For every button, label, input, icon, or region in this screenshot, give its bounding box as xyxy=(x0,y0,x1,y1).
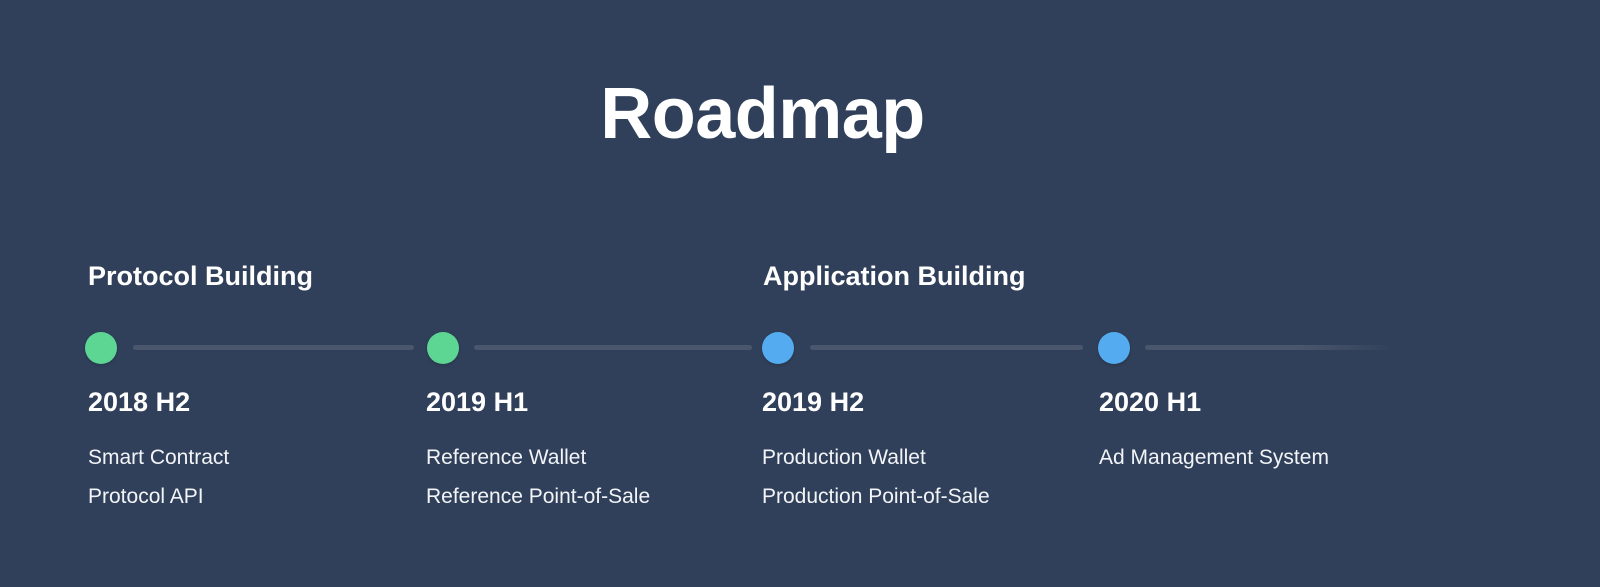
milestone-item-list: Ad Management System xyxy=(1099,438,1429,477)
timeline-track-segment xyxy=(474,345,752,350)
milestone-item: Production Point-of-Sale xyxy=(762,477,1092,516)
milestone-item: Reference Wallet xyxy=(426,438,756,477)
milestone-item-list: Production Wallet Production Point-of-Sa… xyxy=(762,438,1092,516)
roadmap-page: Roadmap Protocol Building Application Bu… xyxy=(0,0,1600,587)
milestone-dot-2019-h1 xyxy=(427,332,459,364)
milestone-block: 2019 H1 Reference Wallet Reference Point… xyxy=(426,389,756,516)
milestone-item: Production Wallet xyxy=(762,438,1092,477)
milestone-block: 2020 H1 Ad Management System xyxy=(1099,389,1429,477)
timeline-track-segment-fading xyxy=(1145,345,1393,350)
milestone-dot-2019-h2 xyxy=(762,332,794,364)
roadmap-timeline: Protocol Building Application Building 2… xyxy=(0,0,1600,587)
milestone-item: Ad Management System xyxy=(1099,438,1429,477)
milestone-period: 2019 H2 xyxy=(762,389,1092,416)
timeline-track-segment xyxy=(810,345,1083,350)
milestone-period: 2019 H1 xyxy=(426,389,756,416)
milestone-item: Smart Contract xyxy=(88,438,418,477)
timeline-track-segment xyxy=(133,345,414,350)
milestone-block: 2018 H2 Smart Contract Protocol API xyxy=(88,389,418,516)
phase-heading-protocol-building: Protocol Building xyxy=(88,263,313,290)
milestone-item-list: Smart Contract Protocol API xyxy=(88,438,418,516)
milestone-dot-2020-h1 xyxy=(1098,332,1130,364)
milestone-item: Protocol API xyxy=(88,477,418,516)
phase-heading-application-building: Application Building xyxy=(763,263,1025,290)
milestone-dot-2018-h2 xyxy=(85,332,117,364)
milestone-item: Reference Point-of-Sale xyxy=(426,477,756,516)
milestone-block: 2019 H2 Production Wallet Production Poi… xyxy=(762,389,1092,516)
milestone-period: 2018 H2 xyxy=(88,389,418,416)
milestone-item-list: Reference Wallet Reference Point-of-Sale xyxy=(426,438,756,516)
milestone-period: 2020 H1 xyxy=(1099,389,1429,416)
